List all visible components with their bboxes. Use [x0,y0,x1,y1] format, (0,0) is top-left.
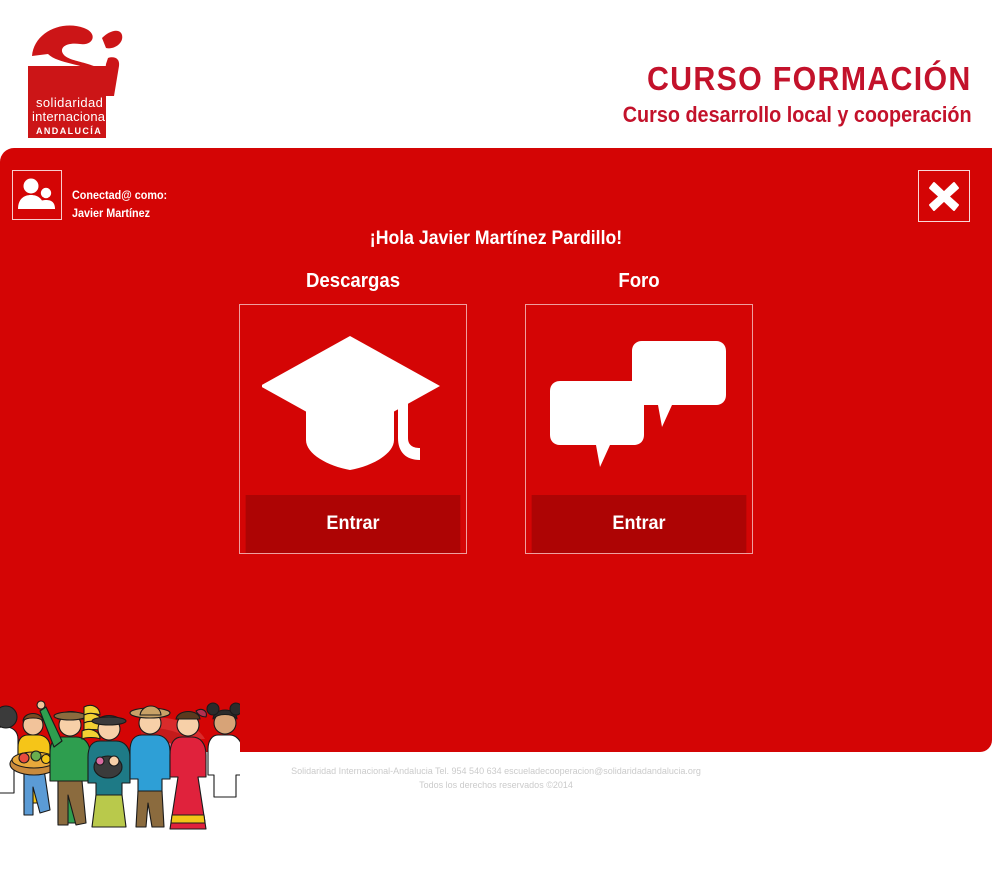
solidaridad-internacional-andalucia-logo[interactable]: solidaridad internacional ANDALUCÍA [14,14,138,144]
two-people-icon [13,171,61,219]
svg-text:internacional: internacional [32,109,108,124]
graduation-cap-icon [240,305,466,501]
header-titles: CURSO FORMACIÓN Curso desarrollo local y… [584,62,972,126]
enter-button-descargas[interactable]: Entrar [246,495,461,553]
connected-user-name: Javier Martínez [72,204,167,222]
speech-bubbles-icon [526,305,752,501]
page-subtitle: Curso desarrollo local y cooperación [623,104,972,126]
avatar [12,170,62,220]
close-button[interactable] [918,170,970,222]
page-header: solidaridad internacional ANDALUCÍA CURS… [0,0,992,148]
close-x-icon [927,179,961,213]
connected-user-info: Conectad@ como: Javier Martínez [72,186,167,222]
card-title-foro: Foro [533,270,745,293]
connected-label: Conectad@ como: [72,186,167,204]
main-red-panel: Conectad@ como: Javier Martínez ¡Hola Ja… [0,148,992,752]
svg-text:solidaridad: solidaridad [36,95,103,110]
card-foro-body[interactable]: Entrar [525,304,753,554]
card-title-descargas: Descargas [247,270,459,293]
group-of-people-illustration [0,665,240,845]
enter-button-foro[interactable]: Entrar [532,495,747,553]
greeting-text: ¡Hola Javier Martínez Pardillo! [35,228,958,250]
cards-container: Descargas Entrar [0,270,992,570]
card-descargas-body[interactable]: Entrar [239,304,467,554]
svg-text:ANDALUCÍA: ANDALUCÍA [36,126,102,136]
card-foro: Foro Entrar [525,270,753,554]
card-descargas: Descargas Entrar [239,270,467,554]
page-root: solidaridad internacional ANDALUCÍA CURS… [0,0,992,888]
page-title: CURSO FORMACIÓN [615,62,972,95]
